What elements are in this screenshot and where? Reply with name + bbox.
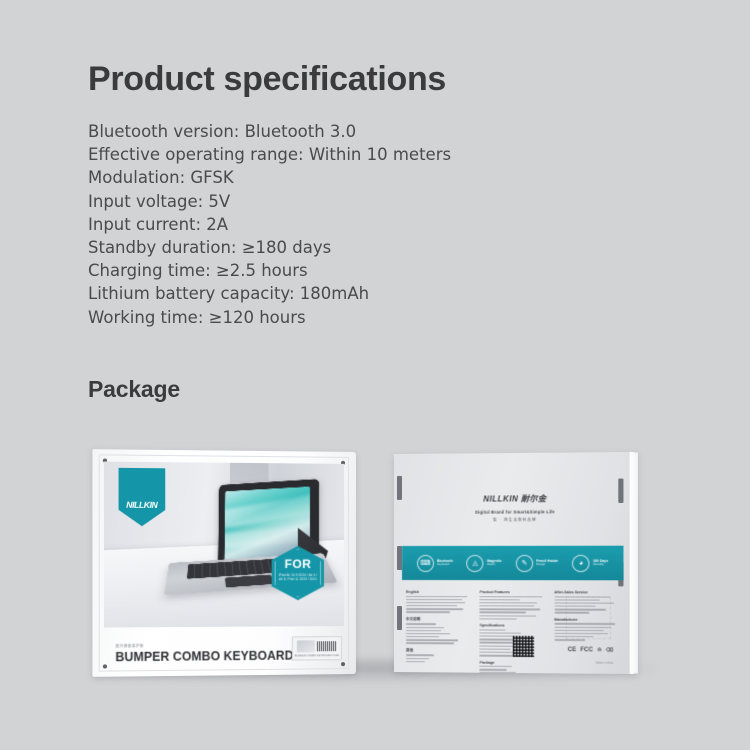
spec-line: Lithium battery capacity: 180mAh [88,282,518,305]
feature-item: ◕ 180 Days Standby [572,554,608,571]
spec-line: Working time: ≥120 hours [88,306,518,329]
feature-subtitle: Attach [487,563,502,567]
qr-code [513,636,534,657]
corner-dot [103,664,107,668]
column-body [406,596,470,614]
feature-item: ✎ Pencil Holder Design [516,554,558,571]
feature-item: ⌨ Bluetooth Keyboard [417,554,453,571]
spec-line: Input current: 2A [88,213,518,236]
page-title: Product specifications [88,60,446,99]
column-body [406,623,470,644]
column-body [480,596,544,620]
brand-tagline: Digital Brand for Smart&Simple Life [394,509,638,515]
pencil-icon: ✎ [516,554,533,571]
magnet-icon: ◬ [467,554,484,571]
feature-subtitle: Design [536,563,558,567]
cert-weee: ⌫ [606,647,613,653]
product-outline-drawing [566,596,611,639]
trackpad [225,575,274,588]
label-thumbnail [297,640,315,652]
brand-name: NILLKIN 耐尔金 [394,493,638,505]
column-body [406,654,470,662]
box-notch [397,606,402,630]
package-heading: Package [88,376,180,403]
brand-name: NILLKIN [126,501,157,510]
column-heading: Package [480,660,544,665]
battery-icon: ◕ [572,554,589,571]
column-heading: 中文说明 [406,617,470,622]
barcode-icon [317,641,337,651]
keyboard-icon: ⌨ [417,554,434,571]
feature-subtitle: Keyboard [437,563,453,567]
spec-line: Bluetooth version: Bluetooth 3.0 [88,120,518,143]
column-heading: English [406,590,470,594]
feature-item: ◬ Magnetic Attach [467,554,502,571]
for-label: FOR [272,557,324,571]
column-heading: After-Sales Service [554,590,619,594]
column-body [480,666,544,674]
manufacture-note: Made in China [596,661,613,665]
front-box-product-label: BUMPER COMBO KEYBOARD CASE [292,636,342,661]
package-back-box: NILLKIN 耐尔金 Digital Brand for Smart&Simp… [394,452,638,674]
tablet-keyboard-device [164,480,335,614]
spec-line: Charging time: ≥2.5 hours [88,259,518,282]
spec-line: Input voltage: 5V [88,190,518,213]
front-box-artwork: NILLKIN FOR iPad Air 10.9 [104,462,344,628]
feature-highlight-bar: ⌨ Bluetooth Keyboard ◬ Magnetic Attach ✎ [402,546,623,581]
brand-tagline-cn: 智 · 简生活数码品牌 [394,517,638,523]
package-front-box: NILLKIN FOR iPad Air 10.9 [92,449,356,677]
cert-fcc: FCC [580,647,593,653]
specification-list: Bluetooth version: Bluetooth 3.0 Effecti… [88,120,518,329]
spec-line: Modulation: GFSK [88,166,518,189]
for-models: iPad Air 10.9 2020 / Air 4 / Air 5 / Pad… [272,573,324,582]
spec-line: Standby duration: ≥180 days [88,236,518,259]
text-column: English 中文说明 [406,590,470,652]
package-photo: NILLKIN FOR iPad Air 10.9 [0,430,750,710]
column-heading: 其他 [406,648,470,653]
front-box-subtitle: 蓝牙键盘保护套 [115,644,143,649]
feature-subtitle: Standby [593,563,608,567]
cert-ce: CE [568,647,577,653]
spec-line: Effective operating range: Within 10 met… [88,143,518,166]
label-caption: BUMPER COMBO KEYBOARD CASE [293,654,341,657]
box-spine [630,452,638,674]
product-spec-page: Product specifications Bluetooth version… [0,0,750,750]
column-heading: Specifications [480,624,544,628]
certification-marks: CE FCC ♲ ⌫ [568,647,613,653]
back-box-header: NILLKIN 耐尔金 Digital Brand for Smart&Simp… [394,493,638,523]
column-heading: Product Features [480,590,544,594]
cert-rohs: ♲ [597,647,602,653]
corner-dot [341,662,345,666]
